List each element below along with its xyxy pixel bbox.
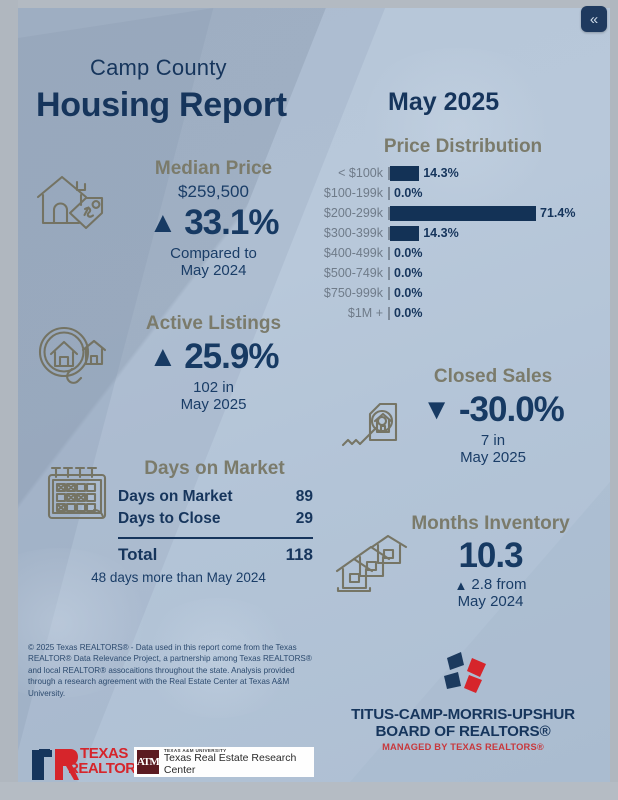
report-sheet: Camp County Housing Report May 2025 Medi…	[18, 8, 610, 782]
price-distribution-value-label: 0.0%	[394, 186, 423, 200]
price-distribution-category-label: $750-999k	[318, 286, 388, 300]
table-row: Days to Close 29	[118, 508, 313, 530]
dom-row-1-label: Days to Close	[118, 508, 221, 530]
price-distribution-category-label: $500-749k	[318, 266, 388, 280]
three-houses-icon	[334, 533, 412, 595]
copyright-text: © 2025 Texas REALTORS® - Data used in th…	[28, 642, 321, 699]
price-distribution-category-label: $400-499k	[318, 246, 388, 260]
days-on-market-table: Days on Market 89 Days to Close 29 Total…	[118, 486, 313, 565]
page-title: Housing Report	[36, 86, 287, 125]
price-distribution-row: $500-749k0.0%	[318, 263, 603, 283]
chart-axis-line	[388, 227, 390, 240]
active-listings-change: 25.9%	[184, 337, 278, 377]
chart-axis-line	[388, 267, 390, 280]
price-distribution-category-label: $1M +	[318, 306, 388, 320]
months-inventory-sub-line-2: May 2024	[323, 594, 608, 611]
days-on-market-note: 48 days more than May 2024	[36, 570, 321, 585]
price-distribution-row: $1M +0.0%	[318, 303, 603, 323]
dom-row-0-label: Days on Market	[118, 486, 233, 508]
price-distribution-value-label: 0.0%	[394, 306, 423, 320]
price-distribution-row: $100-199k0.0%	[318, 183, 603, 203]
chart-axis-line	[388, 167, 390, 180]
months-inventory-trend-icon: ▲	[455, 579, 468, 592]
keys-house-tag-icon	[340, 388, 412, 450]
months-inventory-change: 2.8 from	[471, 577, 526, 594]
frame-edge-top	[0, 0, 618, 8]
chart-axis-line	[388, 247, 390, 260]
board-of-realtors-logo: TITUS-CAMP-MORRIS-UPSHUR BOARD OF REALTO…	[318, 650, 608, 752]
price-distribution-bar	[390, 206, 536, 221]
table-row: Days on Market 89	[118, 486, 313, 508]
report-content: Camp County Housing Report May 2025 Medi…	[18, 8, 610, 782]
price-distribution-bar	[390, 166, 419, 181]
calendar-icon	[44, 463, 110, 523]
table-divider	[118, 537, 313, 539]
closed-sales-sub-line-1: 7 in	[378, 433, 608, 450]
closed-sales-sub-line-2: May 2025	[378, 450, 608, 467]
price-distribution-row: $400-499k0.0%	[318, 243, 603, 263]
price-distribution-bar-track: 0.0%	[388, 286, 603, 301]
price-distribution-value-label: 0.0%	[394, 246, 423, 260]
median-price-trend-icon: ▲	[149, 209, 178, 238]
table-total-row: Total 118	[118, 545, 313, 565]
price-distribution-bar-track: 14.3%	[388, 226, 603, 241]
house-price-tag-icon	[32, 171, 108, 233]
frame-edge-right	[610, 0, 618, 800]
chart-axis-line	[388, 187, 390, 200]
housing-report-page: Camp County Housing Report May 2025 Medi…	[0, 0, 618, 800]
active-listings-trend-icon: ▲	[149, 343, 178, 372]
price-distribution-bar-track: 71.4%	[388, 206, 603, 221]
board-managed-by: MANAGED BY TEXAS REALTORS®	[318, 742, 608, 752]
board-pinwheel-icon	[420, 650, 506, 700]
price-distribution-bar-track: 0.0%	[388, 266, 603, 281]
chart-axis-line	[388, 287, 390, 300]
board-name-line-2: BOARD OF REALTORS®	[318, 723, 608, 740]
price-distribution-category-label: < $100k	[318, 166, 388, 180]
median-price-sub-line-1: Compared to	[106, 246, 321, 263]
frame-edge-bottom	[0, 782, 618, 800]
closed-sales-title: Closed Sales	[323, 366, 608, 388]
dom-total-label: Total	[118, 545, 157, 565]
chart-axis-line	[388, 207, 390, 220]
active-listings-sub-line-1: 102 in	[106, 380, 321, 397]
magnifier-house-icon	[34, 326, 114, 388]
price-distribution-category-label: $300-399k	[318, 226, 388, 240]
tamu-line-2: Texas Real Estate Research Center	[164, 753, 311, 776]
closed-sales-trend-icon: ▼	[422, 396, 451, 425]
price-distribution-bar-track: 0.0%	[388, 246, 603, 261]
closed-sales-change: -30.0%	[459, 390, 564, 430]
price-distribution-bar	[390, 226, 419, 241]
dom-total-value: 118	[286, 545, 313, 565]
collapse-panel-button[interactable]: «	[581, 6, 607, 32]
price-distribution-category-label: $100-199k	[318, 186, 388, 200]
texas-realtors-logo: TEXAS REALTORS®	[24, 744, 144, 782]
price-distribution-bar-track: 14.3%	[388, 166, 603, 181]
chevron-double-left-icon: «	[590, 12, 598, 27]
price-distribution-category-label: $200-299k	[318, 206, 388, 220]
price-distribution-chart: < $100k14.3%$100-199k0.0%$200-299k71.4%$…	[318, 163, 603, 323]
chart-axis-line	[388, 307, 390, 320]
tamu-research-center-logo: ATM TEXAS A&M UNIVERSITY Texas Real Esta…	[134, 747, 314, 777]
price-distribution-value-label: 14.3%	[423, 226, 458, 240]
price-distribution-value-label: 71.4%	[540, 206, 575, 220]
price-distribution-row: $300-399k14.3%	[318, 223, 603, 243]
active-listings-sub-line-2: May 2025	[106, 397, 321, 414]
price-distribution-value-label: 0.0%	[394, 286, 423, 300]
price-distribution-bar-track: 0.0%	[388, 186, 603, 201]
county-name: Camp County	[90, 55, 227, 81]
tamu-mark-icon: ATM	[137, 750, 159, 774]
median-price-change: 33.1%	[184, 203, 278, 243]
price-distribution-title: Price Distribution	[328, 136, 598, 158]
median-price-sub-line-2: May 2024	[106, 263, 321, 280]
price-distribution-value-label: 0.0%	[394, 266, 423, 280]
dom-row-0-value: 89	[296, 486, 313, 508]
price-distribution-row: $750-999k0.0%	[318, 283, 603, 303]
months-inventory-title: Months Inventory	[323, 513, 608, 535]
price-distribution-row: $200-299k71.4%	[318, 203, 603, 223]
report-period: May 2025	[388, 88, 499, 117]
price-distribution-bar-track: 0.0%	[388, 306, 603, 321]
frame-edge-left	[0, 0, 18, 800]
board-name-line-1: TITUS-CAMP-MORRIS-UPSHUR	[318, 706, 608, 723]
price-distribution-row: < $100k14.3%	[318, 163, 603, 183]
dom-row-1-value: 29	[296, 508, 313, 530]
price-distribution-value-label: 14.3%	[423, 166, 458, 180]
